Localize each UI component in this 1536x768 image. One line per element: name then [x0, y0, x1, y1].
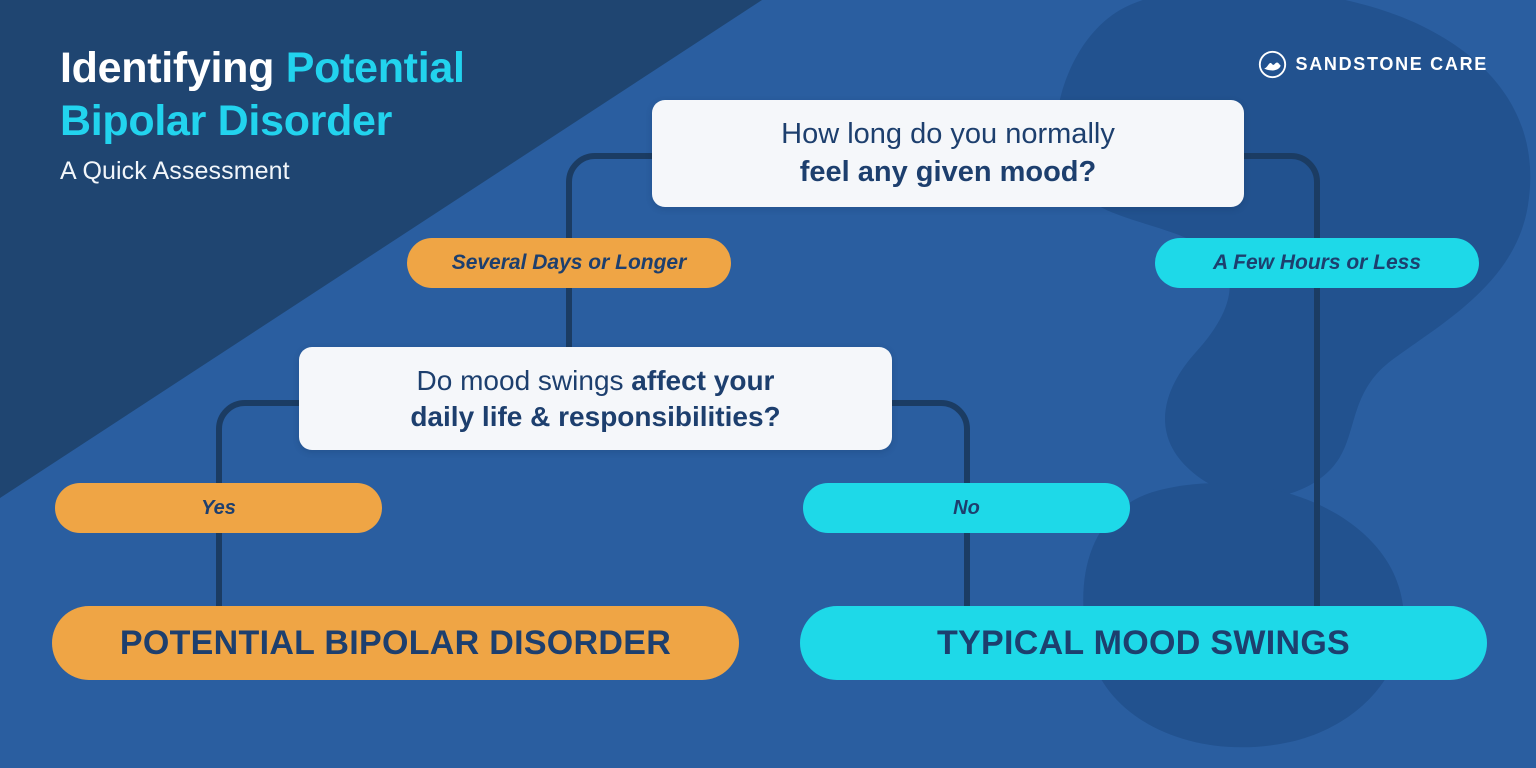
option-several-days-label: Several Days or Longer [452, 251, 687, 275]
page-subtitle: A Quick Assessment [60, 157, 465, 186]
page-title-line-2: Bipolar Disorder [60, 95, 465, 148]
question2-line-2: daily life & responsibilities? [410, 399, 780, 435]
result-bipolar-label: POTENTIAL BIPOLAR DISORDER [120, 624, 671, 663]
result-potential-bipolar-disorder[interactable]: POTENTIAL BIPOLAR DISORDER [52, 606, 739, 680]
brand-logo[interactable]: SANDSTONE CARE [1258, 50, 1489, 79]
question2-line-1-bold: affect your [631, 365, 774, 396]
question-card-daily-life: Do mood swings affect your daily life & … [299, 347, 892, 450]
page-title-line-1: Identifying Potential [60, 42, 465, 95]
header-block: Identifying Potential Bipolar Disorder A… [60, 42, 465, 186]
option-few-hours-label: A Few Hours or Less [1213, 251, 1421, 275]
option-a-few-hours-or-less[interactable]: A Few Hours or Less [1155, 238, 1479, 288]
option-yes[interactable]: Yes [55, 483, 382, 533]
question1-text-wrap: How long do you normally feel any given … [781, 116, 1115, 190]
sandstone-mountain-circle-icon [1258, 50, 1287, 79]
question2-text-wrap: Do mood swings affect your daily life & … [410, 363, 780, 435]
result-typical-label: TYPICAL MOOD SWINGS [937, 624, 1350, 663]
option-no[interactable]: No [803, 483, 1130, 533]
brand-name: SANDSTONE CARE [1296, 54, 1489, 75]
question-card-duration: How long do you normally feel any given … [652, 100, 1244, 207]
question1-line-1: How long do you normally [781, 116, 1115, 153]
question2-line-1: Do mood swings affect your [410, 363, 780, 399]
option-yes-label: Yes [201, 497, 236, 520]
infographic-canvas: Identifying Potential Bipolar Disorder A… [0, 0, 1536, 768]
result-typical-mood-swings[interactable]: TYPICAL MOOD SWINGS [800, 606, 1487, 680]
option-no-label: No [953, 497, 980, 520]
title-part-potential: Potential [286, 44, 465, 92]
question2-line-1-light: Do mood swings [417, 365, 632, 396]
question1-line-2: feel any given mood? [781, 154, 1115, 191]
option-several-days-or-longer[interactable]: Several Days or Longer [407, 238, 731, 288]
title-part-identifying: Identifying [60, 44, 286, 92]
